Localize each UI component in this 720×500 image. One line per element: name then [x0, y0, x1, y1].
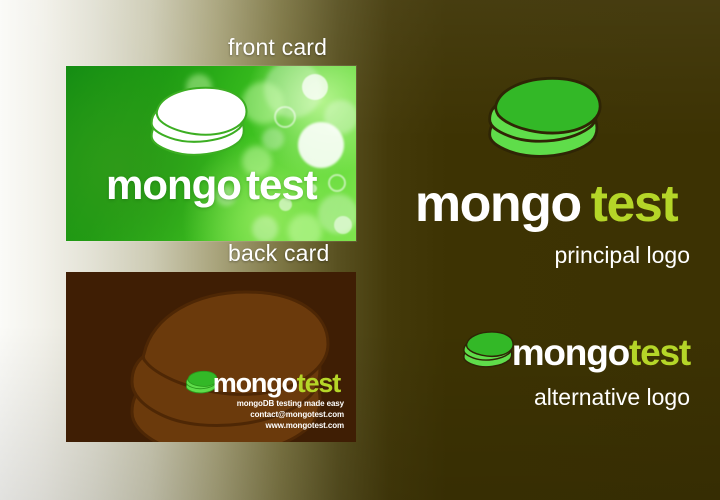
bokeh-circle	[334, 216, 352, 234]
principal-wordmark-mongo: mongo	[415, 175, 581, 233]
bokeh-circle	[302, 74, 328, 100]
back-card-caption: back card	[228, 240, 330, 267]
alternative-logo-wordmark: mongotest	[512, 334, 690, 371]
front-card-caption: front card	[228, 34, 327, 61]
back-card-logo-block: mongotest mongoDB testing made easy cont…	[184, 369, 344, 430]
back-wordmark-test: test	[297, 368, 340, 398]
front-card[interactable]: mongotest	[66, 66, 356, 241]
back-card-logo-row: mongotest	[184, 369, 344, 397]
stacked-disc-icon	[460, 330, 518, 374]
bokeh-circle	[274, 106, 296, 128]
bokeh-circle	[262, 128, 284, 150]
stacked-disc-icon	[481, 74, 611, 164]
back-card-email: contact@mongotest.com	[184, 411, 344, 419]
principal-wordmark-test: test	[591, 175, 677, 233]
back-card[interactable]: mongotest mongoDB testing made easy cont…	[66, 272, 356, 442]
principal-logo-block: mongotest principal logo	[396, 74, 696, 269]
alternative-logo-label: alternative logo	[396, 384, 696, 411]
brand-sheet-canvas: front card	[0, 0, 720, 500]
back-card-website: www.mongotest.com	[184, 422, 344, 430]
bokeh-circle	[252, 216, 278, 241]
front-wordmark-mongo: mongo	[106, 161, 241, 208]
front-card-wordmark: mongotest	[106, 161, 317, 209]
front-wordmark-test: test	[246, 161, 317, 208]
alternative-logo-block: mongotest alternative logo	[396, 330, 696, 411]
stacked-disc-icon	[144, 84, 256, 164]
alternative-wordmark-mongo: mongo	[512, 332, 629, 373]
back-card-tagline: mongoDB testing made easy	[184, 400, 344, 408]
back-card-wordmark: mongotest	[213, 370, 340, 397]
alternative-logo-row: mongotest	[396, 330, 696, 374]
alternative-wordmark-test: test	[629, 332, 690, 373]
bokeh-circle	[288, 214, 322, 241]
principal-logo-label: principal logo	[396, 242, 696, 269]
principal-logo-wordmark: mongotest	[396, 178, 696, 230]
back-wordmark-mongo: mongo	[213, 368, 297, 398]
bokeh-circle	[328, 174, 346, 192]
